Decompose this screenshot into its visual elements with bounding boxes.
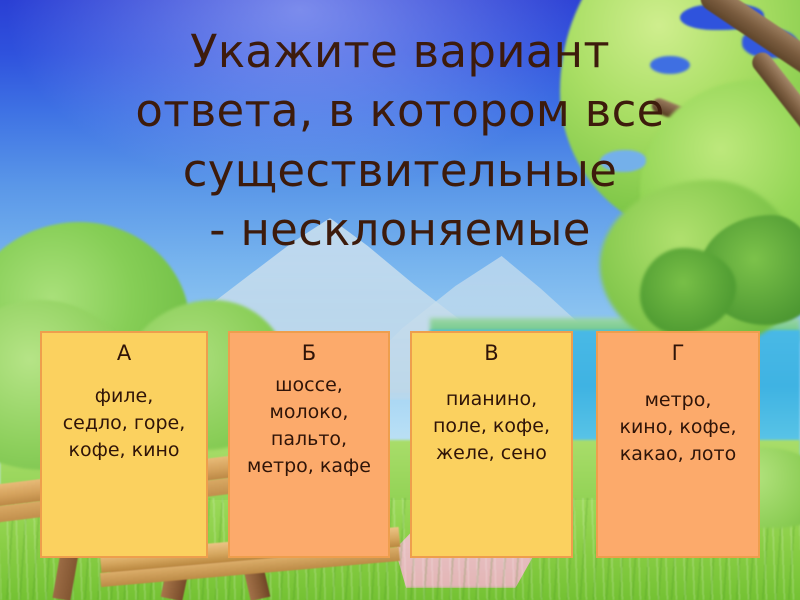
answer-letter-a: А — [117, 341, 131, 366]
answer-options: А филе, седло, горе, кофе, кино Б шоссе,… — [0, 331, 800, 561]
answer-text-a: филе, седло, горе, кофе, кино — [57, 370, 192, 464]
question-title: Укажите вариант ответа, в котором все су… — [0, 22, 800, 260]
answer-card-b[interactable]: Б шоссе, молоко, пальто, метро, кафе — [228, 331, 390, 558]
answer-letter-b: Б — [302, 341, 316, 366]
answer-text-v: пианино, поле, кофе, желе, сено — [427, 370, 556, 467]
answer-text-g: метро, кино, кофе, какао, лото — [613, 370, 742, 468]
answer-letter-g: Г — [672, 341, 685, 366]
answer-text-b: шоссе, молоко, пальто, метро, кафе — [241, 370, 377, 480]
quiz-slide: Укажите вариант ответа, в котором все су… — [0, 0, 800, 600]
answer-card-v[interactable]: В пианино, поле, кофе, желе, сено — [410, 331, 573, 558]
answer-card-a[interactable]: А филе, седло, горе, кофе, кино — [40, 331, 208, 558]
answer-card-g[interactable]: Г метро, кино, кофе, какао, лото — [596, 331, 760, 558]
answer-letter-v: В — [484, 341, 498, 366]
